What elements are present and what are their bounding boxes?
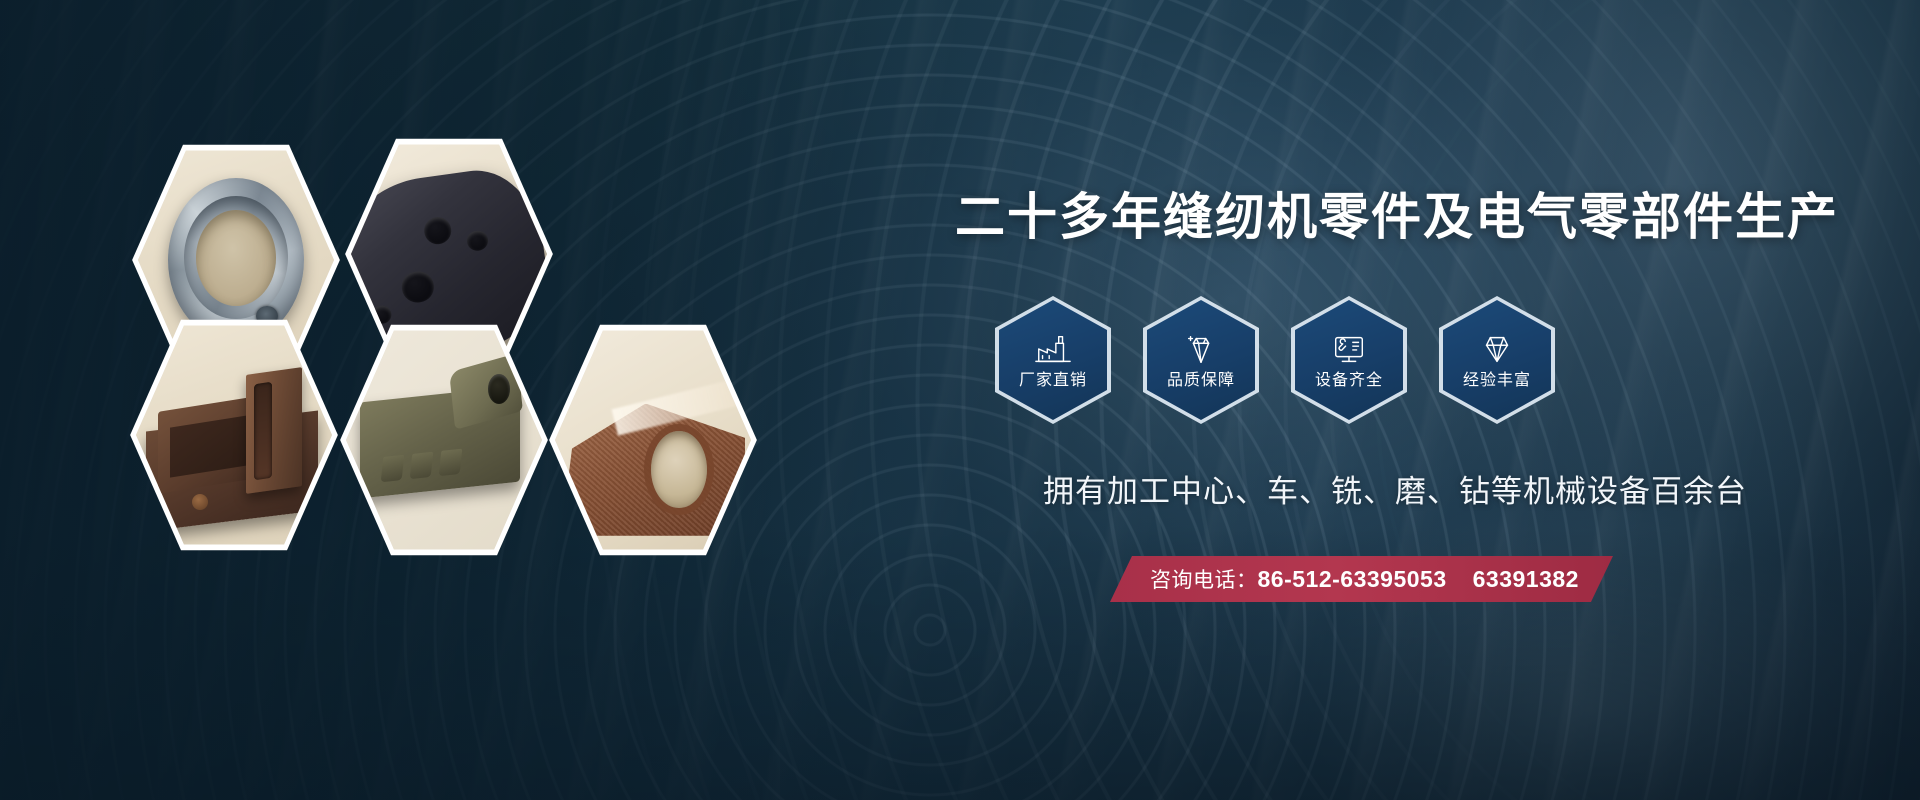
product-photo-olive-forked-casting (344, 326, 544, 554)
product-hex-brown-cast-bracket[interactable] (128, 315, 340, 555)
contact-phone-bar[interactable]: 咨询电话： 86-512-63395053 63391382 (1110, 556, 1613, 602)
product-photo-bronze-bore-casting (553, 326, 753, 554)
feature-badge-label: 厂家直销 (1019, 373, 1087, 389)
headline: 二十多年缝纫机零件及电气零部件生产 (955, 192, 1835, 242)
feature-badge-quality-assurance[interactable]: 品质保障 (1143, 296, 1259, 424)
feature-badge-label: 经验丰富 (1463, 373, 1531, 389)
factory-icon (1034, 332, 1072, 366)
contact-phone-number-primary: 86-512-63395053 (1258, 566, 1447, 593)
feature-badge-list: 厂家直销 品质保障 (995, 296, 1555, 424)
promo-banner: 二十多年缝纫机零件及电气零部件生产 厂家直销 (0, 0, 1920, 800)
feature-badge-full-equipment[interactable]: 设备齐全 (1291, 296, 1407, 424)
product-photo-brown-cast-bracket (134, 321, 334, 549)
gem-icon (1478, 332, 1516, 366)
contact-phone-number-secondary: 63391382 (1473, 566, 1579, 593)
subline: 拥有加工中心、车、铣、磨、钻等机械设备百余台 (955, 476, 1835, 507)
monitor-wrench-icon (1330, 332, 1368, 366)
feature-badge-factory-direct[interactable]: 厂家直销 (995, 296, 1111, 424)
feature-badge-rich-experience[interactable]: 经验丰富 (1439, 296, 1555, 424)
feature-badge-label: 设备齐全 (1315, 373, 1383, 389)
contact-phone-label: 咨询电话： (1150, 564, 1258, 594)
product-hex-cluster (110, 140, 760, 520)
banner-content: 二十多年缝纫机零件及电气零部件生产 厂家直销 (960, 0, 1920, 800)
feature-badge-label: 品质保障 (1167, 373, 1235, 389)
diamond-sparkle-icon (1182, 332, 1220, 366)
